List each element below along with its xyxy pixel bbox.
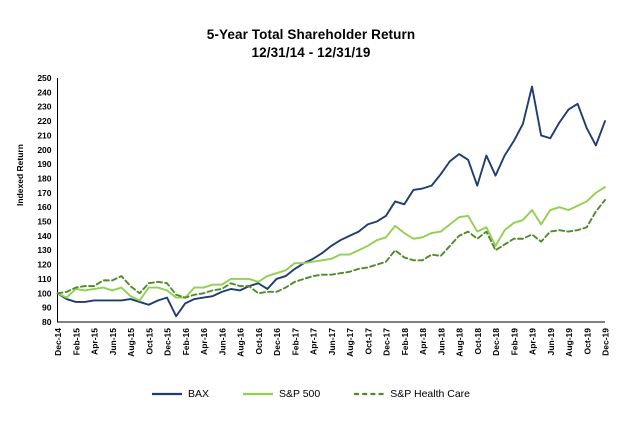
x-axis-tick-label: Dec-16 <box>272 328 282 356</box>
legend-item-bax[interactable]: BAX <box>152 388 209 400</box>
chart-legend: BAXS&P 500S&P Health Care <box>0 388 622 400</box>
x-axis-tick-label: Apr-19 <box>528 328 538 355</box>
legend-label: S&P Health Care <box>390 388 470 400</box>
chart-title: 5-Year Total Shareholder Return <box>0 26 622 44</box>
legend-label: BAX <box>188 388 209 400</box>
y-axis-tick-label: 240 <box>37 87 51 97</box>
y-axis-tick-label: 110 <box>38 274 52 284</box>
y-axis-tick-label: 140 <box>37 231 51 241</box>
legend-swatch-icon <box>243 389 273 399</box>
y-axis-tick-label: 130 <box>37 245 51 255</box>
legend-item-s-p-500[interactable]: S&P 500 <box>243 388 320 400</box>
x-axis-tick-label: Aug-16 <box>236 328 246 357</box>
y-axis-tick-label: 230 <box>37 102 51 112</box>
plot-area: 2502402302202102001901801701601501401301… <box>0 0 622 423</box>
x-axis-tick-label: Feb-18 <box>400 328 410 356</box>
y-axis-tick-label: 120 <box>37 260 51 270</box>
x-axis-tick-label: Jun-19 <box>546 328 556 356</box>
x-axis-tick-label: Feb-17 <box>290 328 300 356</box>
y-axis-tick-label: 100 <box>37 288 51 298</box>
x-axis-tick-label: Jun-17 <box>327 328 337 356</box>
x-axis-tick-label: Aug-18 <box>455 328 465 357</box>
x-axis-tick-label: Feb-19 <box>509 328 519 356</box>
legend-swatch-icon <box>152 389 182 399</box>
x-axis-tick-label: Aug-15 <box>126 328 136 357</box>
y-axis-tick-label: 200 <box>37 145 51 155</box>
y-axis-tick-label: 80 <box>42 317 52 327</box>
x-axis-tick-label: Dec-15 <box>163 328 173 356</box>
x-axis-tick-label: Oct-15 <box>144 328 154 355</box>
x-axis-tick-label: Aug-17 <box>345 328 355 357</box>
y-axis-tick-label: 250 <box>37 73 51 83</box>
y-axis-tick-label: 150 <box>37 217 51 227</box>
x-axis-tick-label: Apr-17 <box>309 328 319 355</box>
series-line-bax <box>58 87 606 317</box>
x-axis-tick-label: Apr-16 <box>199 328 209 355</box>
y-axis-tick-label: 170 <box>37 188 51 198</box>
y-axis-title: Indexed Return <box>15 105 25 245</box>
x-axis-tick-label: Apr-15 <box>90 328 100 355</box>
x-axis-tick-label: Dec-18 <box>491 328 501 356</box>
legend-label: S&P 500 <box>279 388 320 400</box>
x-axis-tick-label: Oct-16 <box>254 328 264 355</box>
x-axis-tick-label: Oct-19 <box>582 328 592 355</box>
x-axis-tick-label: Jun-16 <box>217 328 227 356</box>
chart-title-block: 5-Year Total Shareholder Return 12/31/14… <box>0 26 622 62</box>
y-axis-tick-label: 160 <box>37 202 51 212</box>
x-axis-tick-label: Aug-19 <box>564 328 574 357</box>
x-axis-tick-label: Jun-15 <box>108 328 118 356</box>
y-axis-tick-label: 210 <box>37 130 51 140</box>
x-axis-tick-label: Jun-18 <box>436 328 446 356</box>
x-axis-tick-label: Feb-15 <box>71 328 81 356</box>
axis-lines <box>58 78 606 322</box>
chart-subtitle: 12/31/14 - 12/31/19 <box>0 44 622 62</box>
series-line-s-p-500 <box>58 187 606 300</box>
x-axis-tick-label: Dec-19 <box>601 328 611 356</box>
y-axis-tick-label: 90 <box>42 303 52 313</box>
shareholder-return-chart: 5-Year Total Shareholder Return 12/31/14… <box>0 0 622 423</box>
y-axis-tick-label: 180 <box>37 173 51 183</box>
x-axis-tick-label: Apr-18 <box>418 328 428 355</box>
x-axis-tick-label: Oct-18 <box>473 328 483 355</box>
x-axis-tick-label: Feb-16 <box>181 328 191 356</box>
legend-swatch-icon <box>354 389 384 399</box>
x-axis-tick-label: Dec-17 <box>382 328 392 356</box>
y-axis-tick-label: 190 <box>37 159 51 169</box>
series-line-s-p-health-care <box>58 200 606 298</box>
y-axis-tick-label: 220 <box>37 116 51 126</box>
legend-item-s-p-health-care[interactable]: S&P Health Care <box>354 388 470 400</box>
x-axis-tick-label: Oct-17 <box>363 328 373 355</box>
x-axis-tick-label: Dec-14 <box>53 328 63 356</box>
